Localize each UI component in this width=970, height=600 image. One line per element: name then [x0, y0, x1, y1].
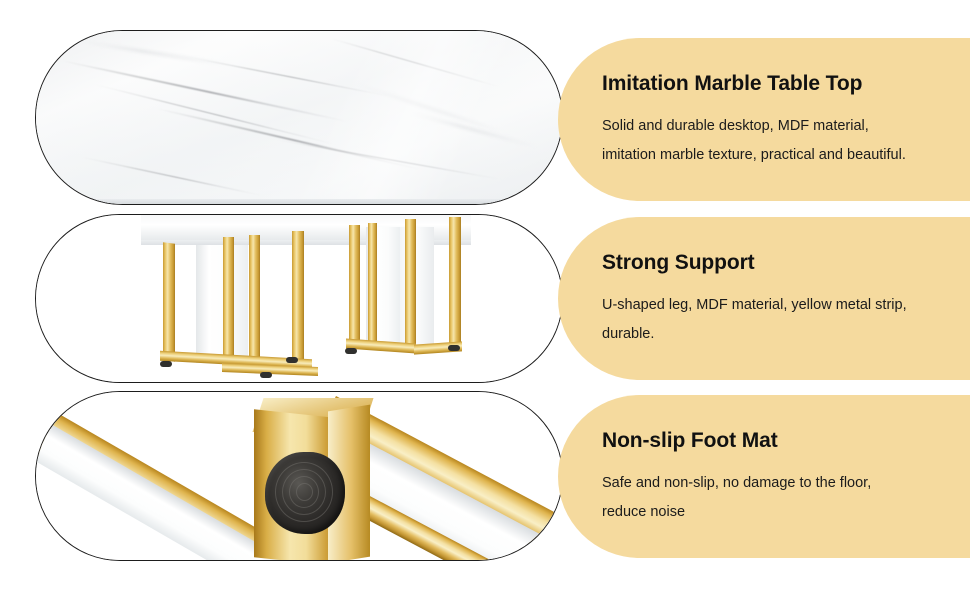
rubber-pad-ring [296, 483, 313, 501]
leg-white-panel [196, 245, 248, 363]
gold-leg-bar [223, 237, 234, 361]
gold-leg-bar [249, 235, 260, 361]
leg-foot-pad [345, 348, 357, 354]
table-legs-art [36, 215, 562, 382]
leg-foot-pad [286, 357, 298, 363]
gold-leg-bar [163, 242, 175, 361]
gold-leg-bar [368, 223, 377, 347]
feature-title: Non-slip Foot Mat [602, 429, 944, 453]
feature-text-marble-table-top: Imitation Marble Table Top Solid and dur… [558, 38, 970, 201]
feature-body-line: Safe and non-slip, no damage to the floo… [602, 469, 944, 497]
gold-leg-bar [449, 217, 461, 351]
leg-foot-pad [260, 372, 272, 378]
feature-body-line: reduce noise [602, 498, 944, 526]
feature-body-line: Solid and durable desktop, MDF material, [602, 112, 944, 140]
feature-body-line: imitation marble texture, practical and … [602, 141, 944, 169]
foot-pad-closeup-art [36, 392, 562, 560]
marble-edge [36, 199, 562, 204]
feature-image-marble-table-top [35, 30, 563, 205]
marble-sheen [36, 31, 562, 204]
feature-title: Strong Support [602, 251, 944, 275]
leg-foot-pad [160, 361, 172, 367]
feature-title: Imitation Marble Table Top [602, 72, 944, 96]
product-feature-infographic: Imitation Marble Table Top Solid and dur… [0, 0, 970, 600]
feature-text-non-slip-foot-mat: Non-slip Foot Mat Safe and non-slip, no … [558, 395, 970, 558]
feature-body-line: durable. [602, 320, 944, 348]
rubber-foot-pad [265, 452, 345, 534]
leg-foot-pad [448, 345, 460, 351]
feature-image-strong-support [35, 214, 563, 383]
feature-body-line: U-shaped leg, MDF material, yellow metal… [602, 291, 944, 319]
feature-image-non-slip-foot-mat [35, 391, 563, 561]
gold-leg-bar [405, 219, 416, 347]
marble-texture-art [36, 31, 562, 204]
gold-leg-bar [292, 231, 304, 363]
feature-text-strong-support: Strong Support U-shaped leg, MDF materia… [558, 217, 970, 380]
gold-leg-bar [349, 225, 360, 349]
